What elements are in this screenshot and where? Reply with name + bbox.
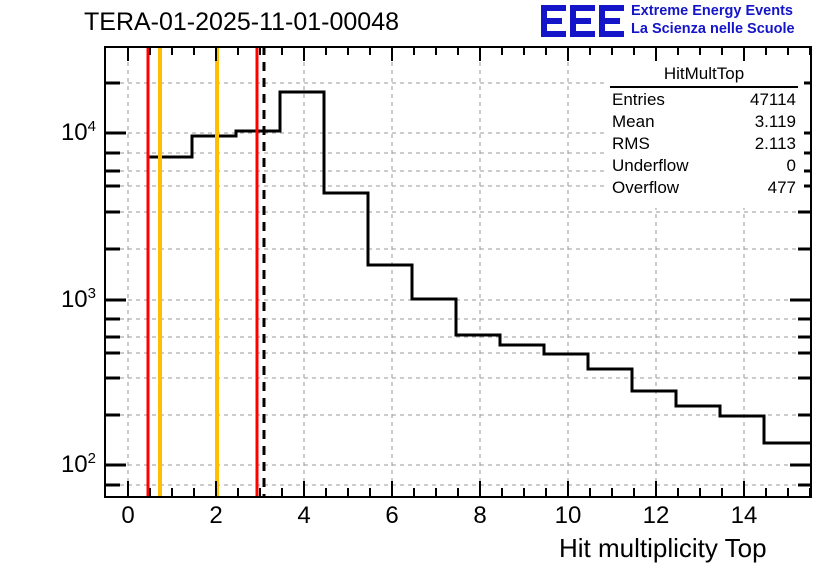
y-axis-ticks [104,46,128,498]
y-tick-exponent-1e4: 4 [88,118,96,135]
stats-row-entries: Entries 47114 [604,88,804,110]
y-tick-label-1e3: 103 [32,285,96,314]
x-axis-ticks [104,476,812,498]
y-tick-label-1e2: 102 [32,450,96,479]
stats-key-mean: Mean [612,111,655,132]
x-axis-ticks-top [104,46,812,62]
stats-row-rms: RMS 2.113 [604,132,804,154]
stats-key-overflow: Overflow [612,177,679,198]
y-tick-mantissa-1e2: 10 [61,451,88,478]
x-tick-label-14: 14 [731,502,758,530]
y-tick-mantissa-1e3: 10 [61,286,88,313]
x-tick-label-6: 6 [385,502,398,530]
x-tick-label-10: 10 [555,502,582,530]
stats-value-overflow: 477 [768,177,796,198]
stats-value-entries: 47114 [750,89,796,110]
y-tick-exponent-1e2: 2 [88,450,96,467]
eee-logo: Extreme Energy Events La Scienza nelle S… [541,2,833,42]
page-title: TERA-01-2025-11-01-00048 [84,8,399,37]
stats-key-entries: Entries [612,89,665,110]
histogram-canvas: TERA-01-2025-11-01-00048 Extreme Energy … [0,0,836,572]
x-tick-label-0: 0 [121,502,134,530]
stats-value-rms: 2.113 [755,133,796,154]
stats-value-mean: 3.119 [755,111,796,132]
y-tick-mantissa-1e4: 10 [61,119,88,146]
stats-key-underflow: Underflow [612,155,689,176]
logo-line-2: La Scienza nelle Scuole [631,21,795,39]
y-tick-label-1e4: 104 [32,118,96,147]
x-tick-label-2: 2 [209,502,222,530]
x-axis-title: Hit multiplicity Top [559,533,767,564]
x-tick-label-12: 12 [643,502,670,530]
stats-key-rms: RMS [612,133,650,154]
stats-value-underflow: 0 [787,155,796,176]
stats-box: HitMultTop Entries 47114 Mean 3.119 RMS … [604,62,804,208]
x-tick-label-8: 8 [473,502,486,530]
x-tick-label-4: 4 [297,502,310,530]
y-tick-exponent-1e3: 3 [88,285,96,302]
stats-row-mean: Mean 3.119 [604,110,804,132]
logo-line-1: Extreme Energy Events [631,3,795,21]
eee-mark-icon [541,4,625,38]
stats-row-underflow: Underflow 0 [604,154,804,176]
stats-title: HitMultTop [610,62,798,88]
stats-row-overflow: Overflow 477 [604,176,804,198]
